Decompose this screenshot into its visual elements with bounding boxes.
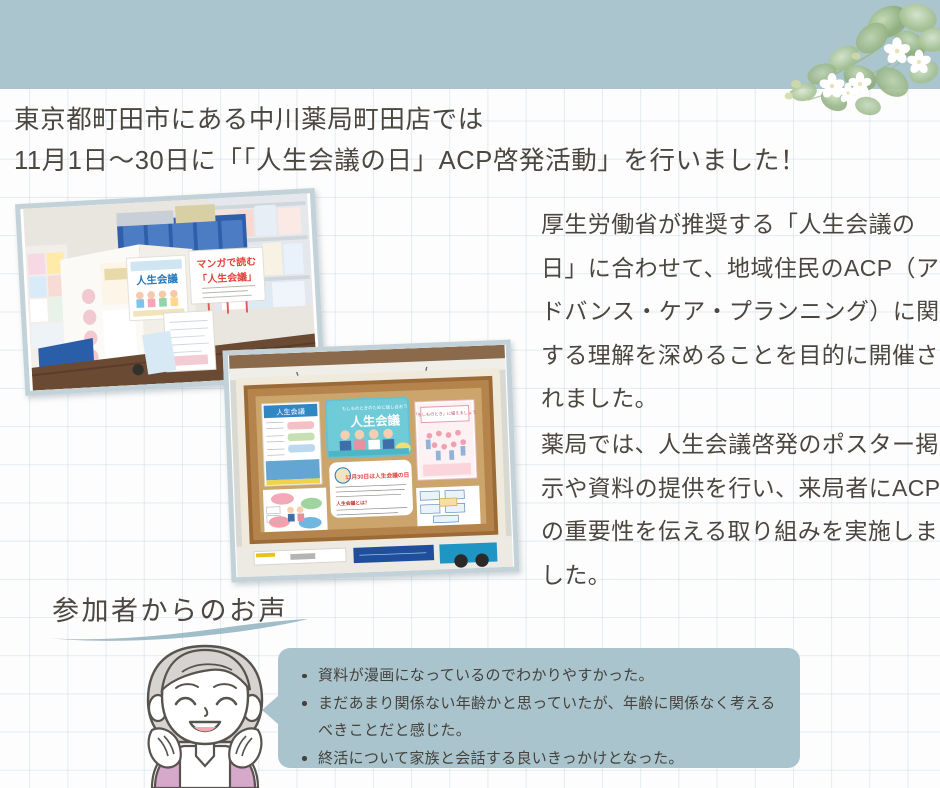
smiling-elderly-woman-illustration — [122, 638, 288, 788]
voices-list: 資料が漫画になっているのでわかりやすかった。 まだあまり関係ない年齢かと思ってい… — [302, 662, 788, 772]
list-item: 資料が漫画になっているのでわかりやすかった。 — [302, 662, 788, 690]
voices-heading: 参加者からのお声 — [52, 592, 352, 630]
body-paragraph-1: 厚生労働省が推奨する「人生会議の日」に合わせて、地域住民のACP（アドバンス・ケ… — [541, 203, 940, 421]
poster-page: 東京都町田市にある中川薬局町田店では 11月1日〜30日に「「人生会議の日」AC… — [0, 0, 940, 788]
list-item: まだあまり関係ない年齢かと思っていたが、年齢に関係なく考えるべきことだと感じた。 — [302, 690, 788, 745]
page-headline: 東京都町田市にある中川薬局町田店では 11月1日〜30日に「「人生会議の日」AC… — [14, 100, 914, 182]
svg-text:人生会議: 人生会議 — [276, 407, 305, 417]
svg-text:人生会議: 人生会議 — [350, 412, 401, 429]
photo-cork-bulletin-board: 人生会議 もしものときのために話し合おう 人生会議 — [223, 340, 520, 583]
header-band — [0, 0, 940, 89]
body-paragraph-2: 薬局では、人生会議啓発のポスター掲示や資料の提供を行い、来局者にACPの重要性を… — [541, 423, 940, 597]
voices-speech-bubble: 資料が漫画になっているのでわかりやすかった。 まだあまり関係ない年齢かと思ってい… — [262, 648, 800, 768]
list-item: 終活について家族と会話する良いきっかけとなった。 — [302, 745, 788, 773]
